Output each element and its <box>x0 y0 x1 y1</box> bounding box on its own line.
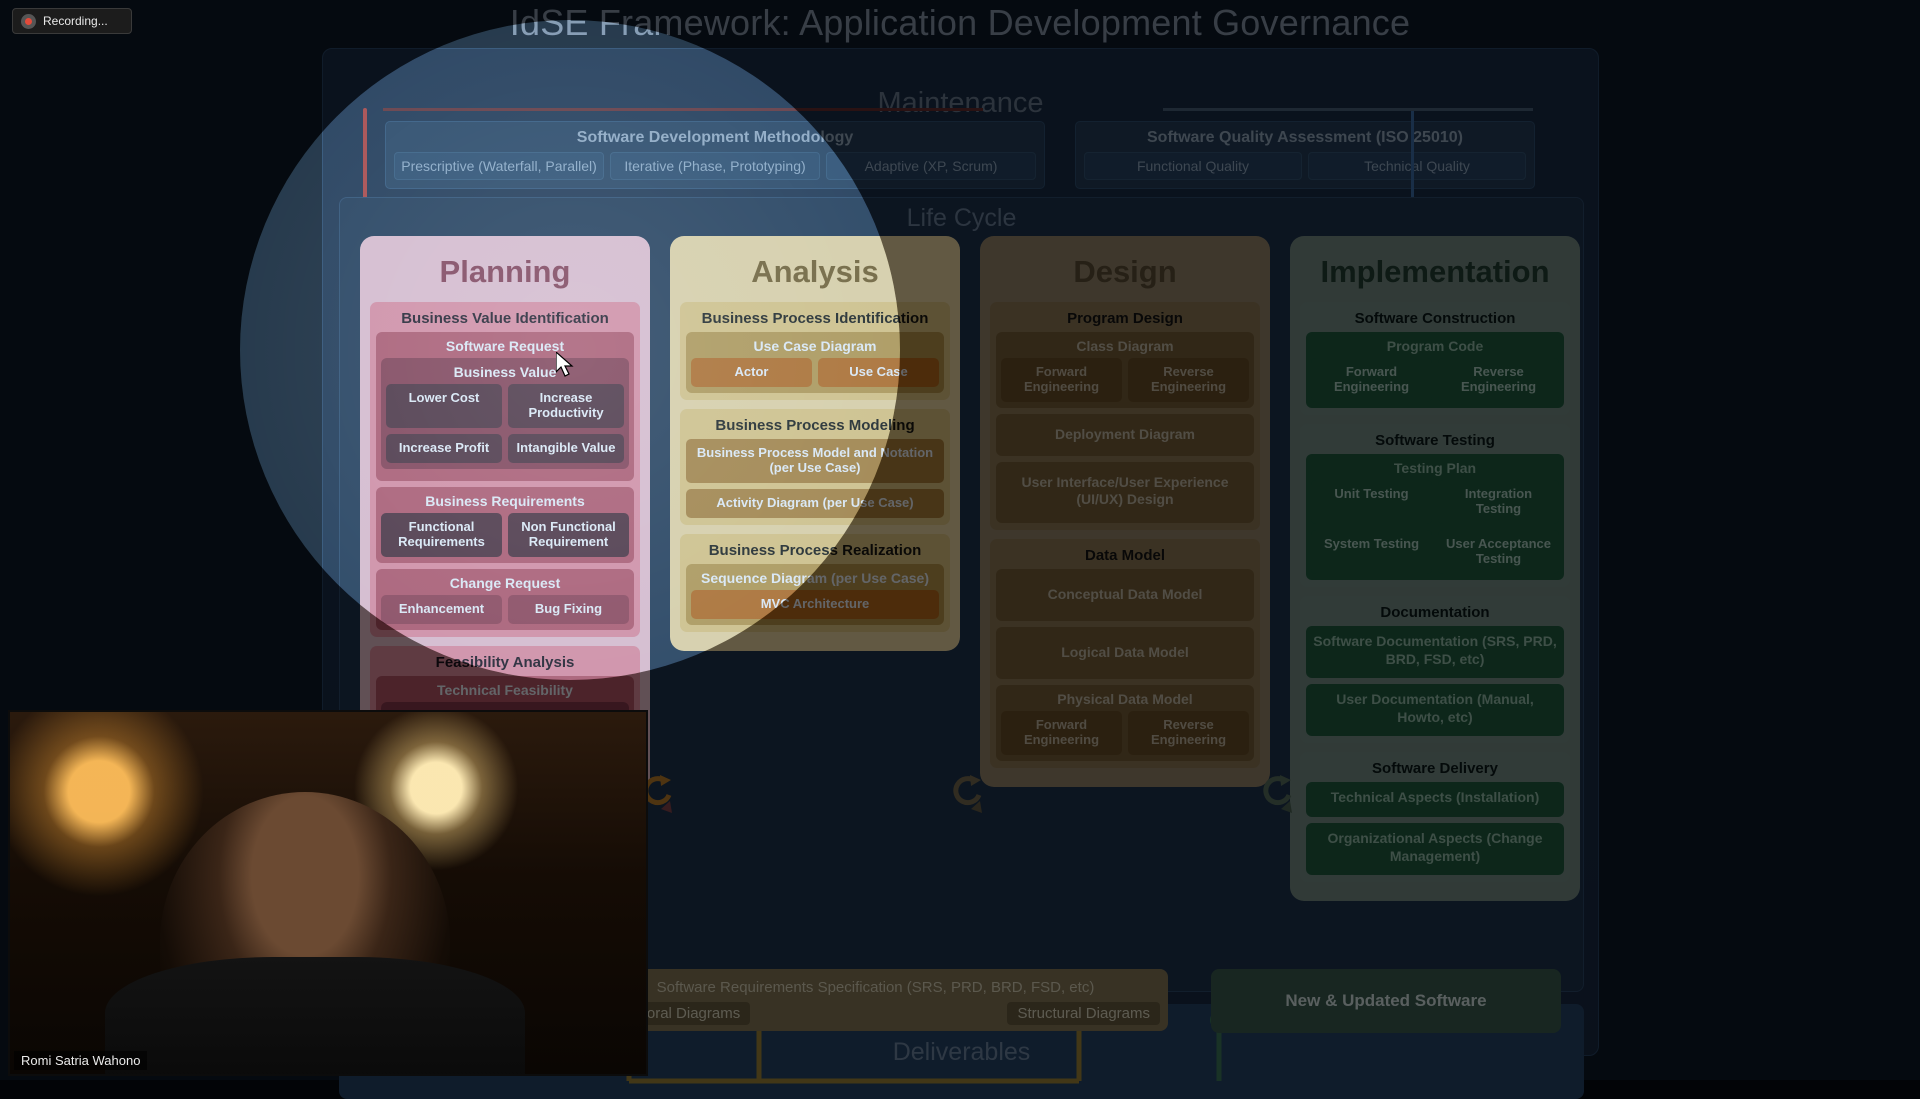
chip-forward-engineering[interactable]: Forward Engineering <box>1001 358 1122 402</box>
quality-box: Software Quality Assessment (ISO 25010) … <box>1075 121 1535 189</box>
group-header: Data Model <box>996 544 1254 569</box>
group-header: Software Testing <box>1306 429 1564 454</box>
sub-change-request: Change Request Enhancement Bug Fixing <box>376 569 634 630</box>
chip-use-case[interactable]: Use Case <box>818 358 939 387</box>
chip-forward-engineering[interactable]: Forward Engineering <box>1311 358 1432 402</box>
chip-lower-cost[interactable]: Lower Cost <box>386 384 502 428</box>
sub-software-request: Software Request Business Value Lower Co… <box>376 332 634 481</box>
sub-deployment-diagram: Deployment Diagram <box>996 414 1254 456</box>
sub-header: User Interface/User Experience (UI/UX) D… <box>1001 466 1249 517</box>
group-business-process-modeling: Business Process Modeling Business Proce… <box>680 409 950 525</box>
group-header: Business Process Modeling <box>686 414 944 439</box>
sub-class-diagram: Class Diagram Forward Engineering Revers… <box>996 332 1254 408</box>
group-software-delivery: Software Delivery Technical Aspects (Ins… <box>1300 752 1570 882</box>
methodology-option-prescriptive[interactable]: Prescriptive (Waterfall, Parallel) <box>394 152 604 180</box>
group-header: Program Design <box>996 307 1254 332</box>
methodology-option-iterative[interactable]: Iterative (Phase, Prototyping) <box>610 152 820 180</box>
chip-increase-profit[interactable]: Increase Profit <box>386 434 502 463</box>
chip-activity-diagram[interactable]: Activity Diagram (per Use Case) <box>686 489 944 518</box>
sub-header: Software Request <box>381 336 629 358</box>
chip-bug-fixing[interactable]: Bug Fixing <box>508 595 629 624</box>
group-software-construction: Software Construction Program Code Forwa… <box>1300 302 1570 415</box>
chip-increase-productivity[interactable]: Increase Productivity <box>508 384 624 428</box>
sub-header: Change Request <box>381 573 629 595</box>
methodology-box: Software Development Methodology Prescri… <box>385 121 1045 189</box>
column-title-planning: Planning <box>370 244 640 302</box>
chip-system-testing[interactable]: System Testing <box>1311 530 1432 574</box>
maintenance-line-left <box>383 108 983 111</box>
group-header: Software Construction <box>1306 307 1564 332</box>
mouse-cursor <box>556 352 576 380</box>
group-data-model: Data Model Conceptual Data Model Logical… <box>990 539 1260 768</box>
deliverable-srs-title: Software Requirements Specification (SRS… <box>591 975 1160 1002</box>
chip-functional-requirements[interactable]: Functional Requirements <box>381 513 502 557</box>
chip-intangible-value[interactable]: Intangible Value <box>508 434 624 463</box>
sub-header: Use Case Diagram <box>691 336 939 358</box>
column-implementation[interactable]: Implementation Software Construction Pro… <box>1290 236 1580 901</box>
column-title-implementation: Implementation <box>1300 244 1570 302</box>
chip-unit-testing[interactable]: Unit Testing <box>1311 480 1432 524</box>
methodology-option-adaptive[interactable]: Adaptive (XP, Scrum) <box>826 152 1036 180</box>
sub-header: Testing Plan <box>1311 458 1559 480</box>
sub-business-value: Business Value Lower Cost Increase Produ… <box>381 358 629 469</box>
webcam-name-label: Romi Satria Wahono <box>14 1051 147 1070</box>
group-software-testing: Software Testing Testing Plan Unit Testi… <box>1300 424 1570 587</box>
group-header: Software Delivery <box>1306 757 1564 782</box>
group-header: Feasibility Analysis <box>376 651 634 676</box>
column-title-analysis: Analysis <box>680 244 950 302</box>
chip-reverse-engineering[interactable]: Reverse Engineering <box>1128 711 1249 755</box>
sub-organizational-aspects: Organizational Aspects (Change Managemen… <box>1306 823 1564 875</box>
chip-mvc-architecture[interactable]: MVC Architecture <box>691 590 939 619</box>
sub-user-documentation: User Documentation (Manual, Howto, etc) <box>1306 684 1564 736</box>
sub-header: Deployment Diagram <box>1001 418 1249 450</box>
recording-indicator[interactable]: Recording... <box>12 8 132 34</box>
sub-physical-data-model: Physical Data Model Forward Engineering … <box>996 685 1254 761</box>
deliverable-structural-diagrams[interactable]: Structural Diagrams <box>1007 1002 1160 1025</box>
group-header: Business Process Identification <box>686 307 944 332</box>
maintenance-label: Maintenance <box>323 87 1598 120</box>
lifecycle-label: Life Cycle <box>340 204 1583 233</box>
sub-header: Conceptual Data Model <box>1001 573 1249 615</box>
column-analysis[interactable]: Analysis Business Process Identification… <box>670 236 960 651</box>
sub-header: Logical Data Model <box>1001 631 1249 673</box>
cycle-arrow-analysis-design <box>953 773 983 817</box>
chip-actor[interactable]: Actor <box>691 358 812 387</box>
sub-header: Technical Feasibility <box>381 680 629 702</box>
sub-technical-aspects: Technical Aspects (Installation) <box>1306 782 1564 816</box>
group-header: Business Process Realization <box>686 539 944 564</box>
sub-header: Software Documentation (SRS, PRD, BRD, F… <box>1311 630 1559 672</box>
sub-header: Business Value <box>386 362 624 384</box>
top-method-row: Software Development Methodology Prescri… <box>385 121 1535 191</box>
cycle-arrow-design-implementation <box>1263 773 1293 817</box>
webcam-overlay[interactable]: Romi Satria Wahono <box>8 710 648 1076</box>
sub-conceptual-data-model: Conceptual Data Model <box>996 569 1254 621</box>
group-documentation: Documentation Software Documentation (SR… <box>1300 596 1570 744</box>
sub-software-documentation: Software Documentation (SRS, PRD, BRD, F… <box>1306 626 1564 678</box>
sub-header: Technical Aspects (Installation) <box>1311 786 1559 810</box>
chip-non-functional-requirement[interactable]: Non Functional Requirement <box>508 513 629 557</box>
sub-program-code: Program Code Forward Engineering Reverse… <box>1306 332 1564 408</box>
deliverable-new-software-label: New & Updated Software <box>1285 991 1486 1011</box>
deliverable-srs-box[interactable]: Software Requirements Specification (SRS… <box>583 969 1168 1031</box>
column-design[interactable]: Design Program Design Class Diagram Forw… <box>980 236 1270 787</box>
chip-enhancement[interactable]: Enhancement <box>381 595 502 624</box>
group-program-design: Program Design Class Diagram Forward Eng… <box>990 302 1260 530</box>
quality-option-technical[interactable]: Technical Quality <box>1308 152 1526 180</box>
group-business-process-realization: Business Process Realization Sequence Di… <box>680 534 950 632</box>
chip-reverse-engineering[interactable]: Reverse Engineering <box>1438 358 1559 402</box>
quality-option-functional[interactable]: Functional Quality <box>1084 152 1302 180</box>
sub-header: Sequence Diagram (per Use Case) <box>691 568 939 590</box>
chip-bpmn[interactable]: Business Process Model and Notation (per… <box>686 439 944 483</box>
deliverable-new-software-box[interactable]: New & Updated Software <box>1211 969 1561 1033</box>
sub-header: Organizational Aspects (Change Managemen… <box>1311 827 1559 869</box>
quality-header: Software Quality Assessment (ISO 25010) <box>1076 122 1534 147</box>
chip-reverse-engineering[interactable]: Reverse Engineering <box>1128 358 1249 402</box>
chip-integration-testing[interactable]: Integration Testing <box>1438 480 1559 524</box>
sub-header: User Documentation (Manual, Howto, etc) <box>1311 688 1559 730</box>
group-business-process-identification: Business Process Identification Use Case… <box>680 302 950 400</box>
chip-user-acceptance-testing[interactable]: User Acceptance Testing <box>1438 530 1559 574</box>
sub-sequence-diagram: Sequence Diagram (per Use Case) MVC Arch… <box>686 564 944 625</box>
recording-label: Recording... <box>43 14 108 28</box>
maintenance-line-right <box>1163 108 1533 111</box>
webcam-presenter-torso <box>105 957 525 1076</box>
group-header: Business Value Identification <box>376 307 634 332</box>
sub-header: Physical Data Model <box>1001 689 1249 711</box>
sub-header: Program Code <box>1311 336 1559 358</box>
sub-header: Business Requirements <box>381 491 629 513</box>
methodology-header: Software Development Methodology <box>386 122 1044 147</box>
column-title-design: Design <box>990 244 1260 302</box>
sub-header: Class Diagram <box>1001 336 1249 358</box>
sub-ui-ux-design: User Interface/User Experience (UI/UX) D… <box>996 462 1254 523</box>
chip-forward-engineering[interactable]: Forward Engineering <box>1001 711 1122 755</box>
page-title: IdSE Framework: Application Development … <box>0 2 1920 44</box>
record-dot-icon <box>21 14 36 29</box>
sub-use-case-diagram: Use Case Diagram Actor Use Case <box>686 332 944 393</box>
sub-logical-data-model: Logical Data Model <box>996 627 1254 679</box>
group-business-value-identification: Business Value Identification Software R… <box>370 302 640 637</box>
sub-testing-plan: Testing Plan Unit Testing Integration Te… <box>1306 454 1564 580</box>
sub-business-requirements: Business Requirements Functional Require… <box>376 487 634 563</box>
group-header: Documentation <box>1306 601 1564 626</box>
